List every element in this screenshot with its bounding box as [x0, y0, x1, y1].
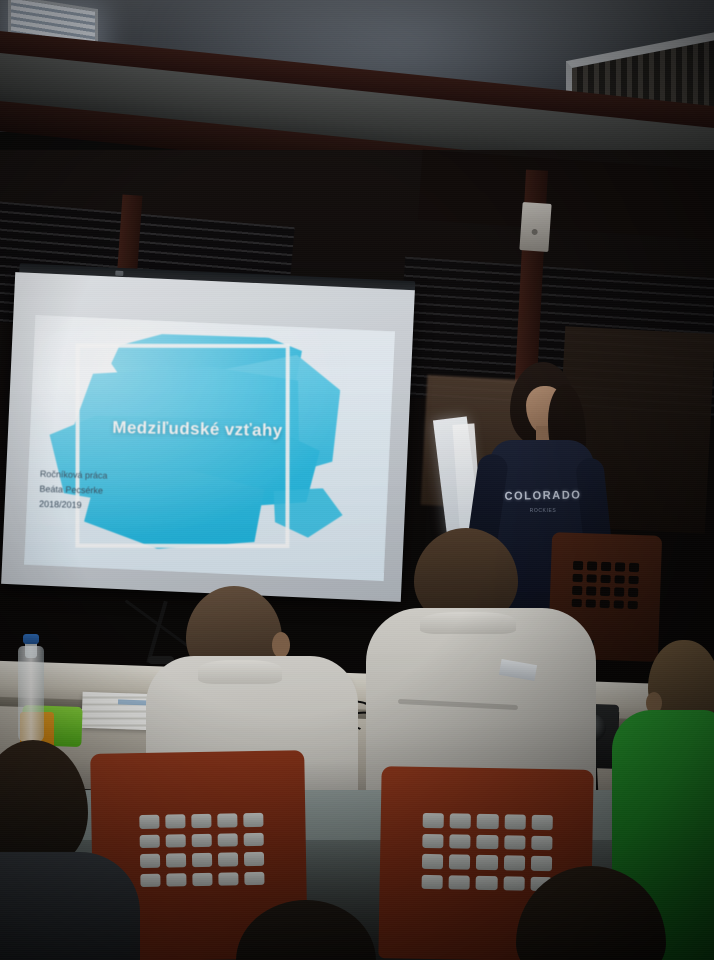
background-chair-slots — [572, 561, 640, 609]
foreground-shoulder-left — [0, 852, 140, 960]
classroom-presentation-photo: Medziľudské vzťahy Ročníková práca Beáta… — [0, 0, 714, 960]
slide-subtitle: Ročníková práca Beáta Pecsérke 2018/2019 — [39, 467, 200, 516]
presenter-shirt-text: COLORADO — [500, 489, 586, 503]
slide-white-frame — [75, 344, 289, 548]
student-right-collar — [420, 612, 516, 634]
chair-right-slots — [422, 813, 553, 891]
projection-screen: Medziľudské vzťahy Ročníková práca Beáta… — [1, 263, 416, 611]
student-left-collar — [198, 660, 282, 684]
water-bottle — [18, 646, 44, 742]
wall-speaker-icon — [519, 202, 551, 252]
slide-subtitle-line-3: 2018/2019 — [39, 497, 199, 516]
water-bottle-cap-icon — [23, 634, 39, 644]
presentation-slide: Medziľudské vzťahy Ročníková práca Beáta… — [24, 315, 395, 581]
student-left-ear — [272, 632, 290, 658]
presenter-shirt-subtext: ROCKIES — [514, 508, 572, 514]
screen-frame: Medziľudské vzťahy Ročníková práca Beáta… — [1, 272, 415, 602]
chair-left-slots — [139, 813, 264, 887]
